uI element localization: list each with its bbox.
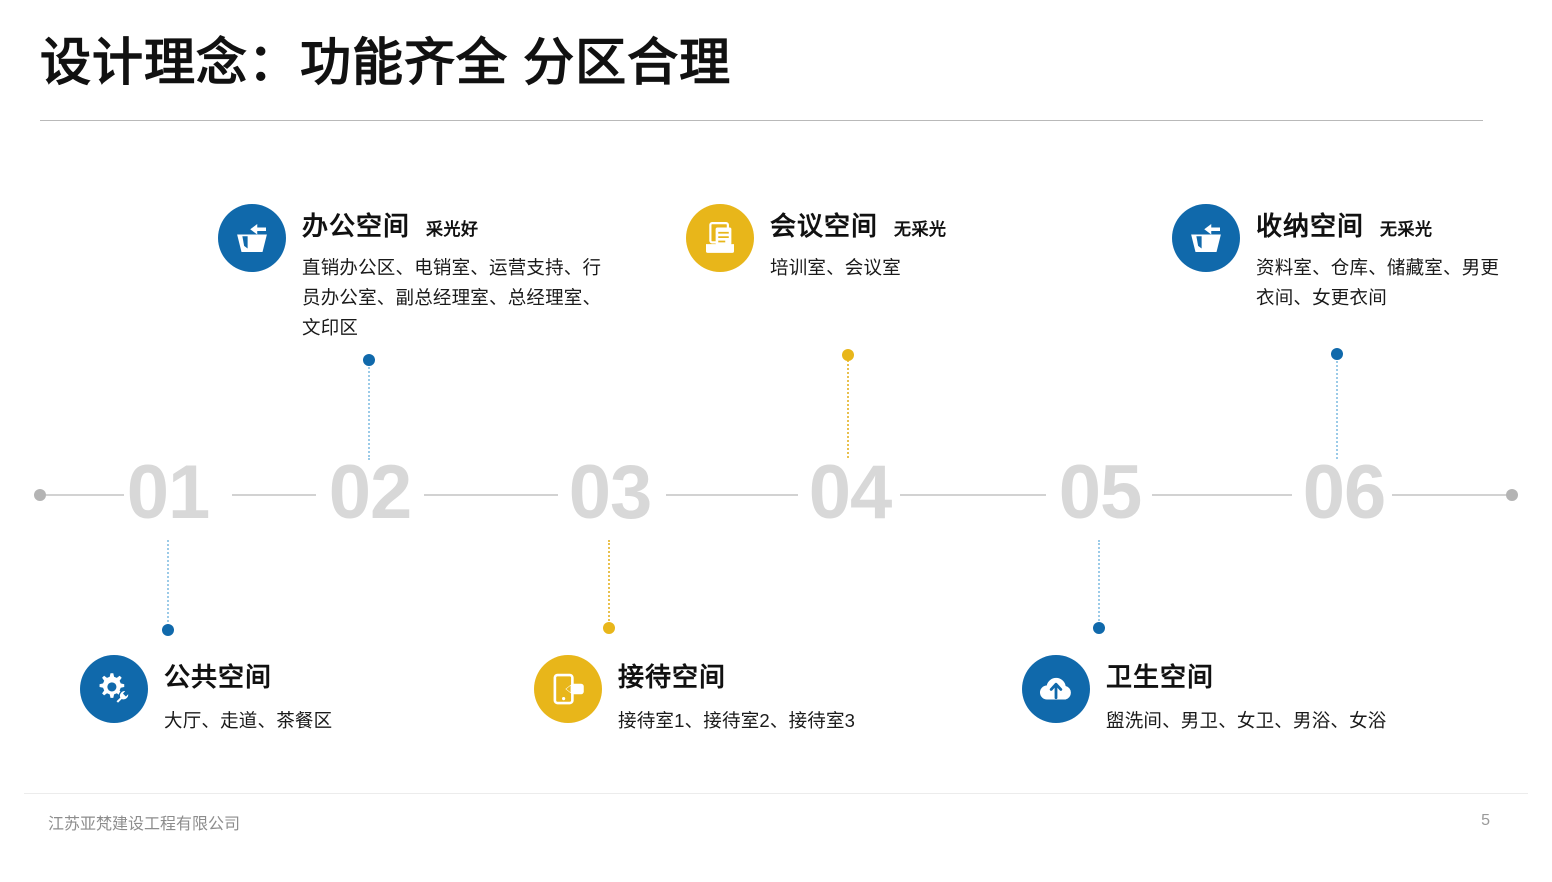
item-heading: 办公空间 采光好: [302, 206, 618, 243]
item-heading: 接待空间: [618, 657, 855, 694]
item-description: 资料室、仓库、储藏室、男更衣间、女更衣间: [1256, 253, 1502, 313]
axis-segment: [900, 494, 1046, 496]
page-number: 5: [1481, 812, 1490, 830]
connector-storage: [1336, 354, 1338, 459]
phone-hand-icon: [534, 655, 602, 723]
item-title: 办公空间: [302, 206, 410, 243]
document-tray-icon: [686, 204, 754, 272]
timeline-step-01: 01: [98, 440, 238, 546]
item-storage[interactable]: 收纳空间 无采光 资料室、仓库、储藏室、男更衣间、女更衣间: [1172, 204, 1502, 313]
page-title: 设计理念：功能齐全 分区合理: [40, 34, 1512, 93]
connector-meeting: [847, 355, 849, 458]
connector-stem: [167, 540, 169, 630]
timeline-axis: 01 02 03 04 05 06: [0, 440, 1552, 550]
item-sanitary[interactable]: 卫生空间 盥洗间、男卫、女卫、男浴、女浴: [1022, 655, 1502, 736]
footer-company-name: 江苏亚梵建设工程有限公司: [48, 810, 240, 834]
item-body: 会议空间 无采光 培训室、会议室: [770, 204, 947, 283]
axis-segment: [1152, 494, 1292, 496]
connector-dot: [162, 624, 174, 636]
item-tag: 无采光: [1380, 215, 1433, 240]
item-heading: 收纳空间 无采光: [1256, 206, 1502, 243]
item-tag: 无采光: [894, 215, 947, 240]
item-title: 收纳空间: [1256, 206, 1364, 243]
item-heading: 会议空间 无采光: [770, 206, 947, 243]
folder-arrow-left-icon: [1172, 204, 1240, 272]
item-description: 盥洗间、男卫、女卫、男浴、女浴: [1106, 706, 1387, 736]
timeline-step-02: 02: [300, 440, 440, 546]
connector-dot: [363, 354, 375, 366]
footer-divider: [24, 793, 1528, 794]
folder-arrow-left-icon: [218, 204, 286, 272]
slide-canvas: 设计理念：功能齐全 分区合理 01 02 03 04 05 06: [0, 0, 1552, 882]
timeline-step-06: 06: [1274, 440, 1414, 546]
item-body: 接待空间 接待室1、接待室2、接待室3: [618, 655, 855, 736]
connector-reception: [608, 540, 610, 628]
axis-segment: [424, 494, 558, 496]
item-body: 收纳空间 无采光 资料室、仓库、储藏室、男更衣间、女更衣间: [1256, 204, 1502, 313]
connector-dot: [1331, 348, 1343, 360]
item-public[interactable]: 公共空间 大厅、走道、茶餐区: [80, 655, 500, 736]
timeline-step-04: 04: [780, 440, 920, 546]
connector-dot: [1093, 622, 1105, 634]
connector-stem: [1098, 540, 1100, 628]
timeline-step-05: 05: [1030, 440, 1170, 546]
connector-stem: [847, 355, 849, 458]
connector-sanitary: [1098, 540, 1100, 628]
item-reception[interactable]: 接待空间 接待室1、接待室2、接待室3: [534, 655, 984, 736]
item-office[interactable]: 办公空间 采光好 直销办公区、电销室、运营支持、行员办公室、副总经理室、总经理室…: [218, 204, 618, 343]
item-heading: 公共空间: [164, 657, 332, 694]
connector-stem: [1336, 354, 1338, 459]
connector-dot: [603, 622, 615, 634]
timeline-step-03: 03: [540, 440, 680, 546]
item-body: 卫生空间 盥洗间、男卫、女卫、男浴、女浴: [1106, 655, 1387, 736]
item-title: 会议空间: [770, 206, 878, 243]
item-tag: 采光好: [426, 215, 479, 240]
connector-dot: [842, 349, 854, 361]
item-body: 办公空间 采光好 直销办公区、电销室、运营支持、行员办公室、副总经理室、总经理室…: [302, 204, 618, 343]
item-title: 接待空间: [618, 657, 726, 694]
connector-stem: [368, 360, 370, 460]
axis-cap-right: [1506, 489, 1518, 501]
gear-wrench-icon: [80, 655, 148, 723]
item-heading: 卫生空间: [1106, 657, 1387, 694]
cloud-upload-icon: [1022, 655, 1090, 723]
item-title: 卫生空间: [1106, 657, 1214, 694]
title-block: 设计理念：功能齐全 分区合理: [40, 34, 1512, 93]
item-meeting[interactable]: 会议空间 无采光 培训室、会议室: [686, 204, 1016, 283]
connector-office: [368, 360, 370, 460]
axis-cap-left: [34, 489, 46, 501]
axis-segment: [666, 494, 798, 496]
item-description: 接待室1、接待室2、接待室3: [618, 706, 855, 736]
item-body: 公共空间 大厅、走道、茶餐区: [164, 655, 332, 736]
item-title: 公共空间: [164, 657, 272, 694]
item-description: 大厅、走道、茶餐区: [164, 706, 332, 736]
item-description: 培训室、会议室: [770, 253, 947, 283]
item-description: 直销办公区、电销室、运营支持、行员办公室、副总经理室、总经理室、文印区: [302, 253, 618, 343]
title-divider: [40, 120, 1483, 121]
connector-stem: [608, 540, 610, 628]
connector-public: [167, 540, 169, 630]
